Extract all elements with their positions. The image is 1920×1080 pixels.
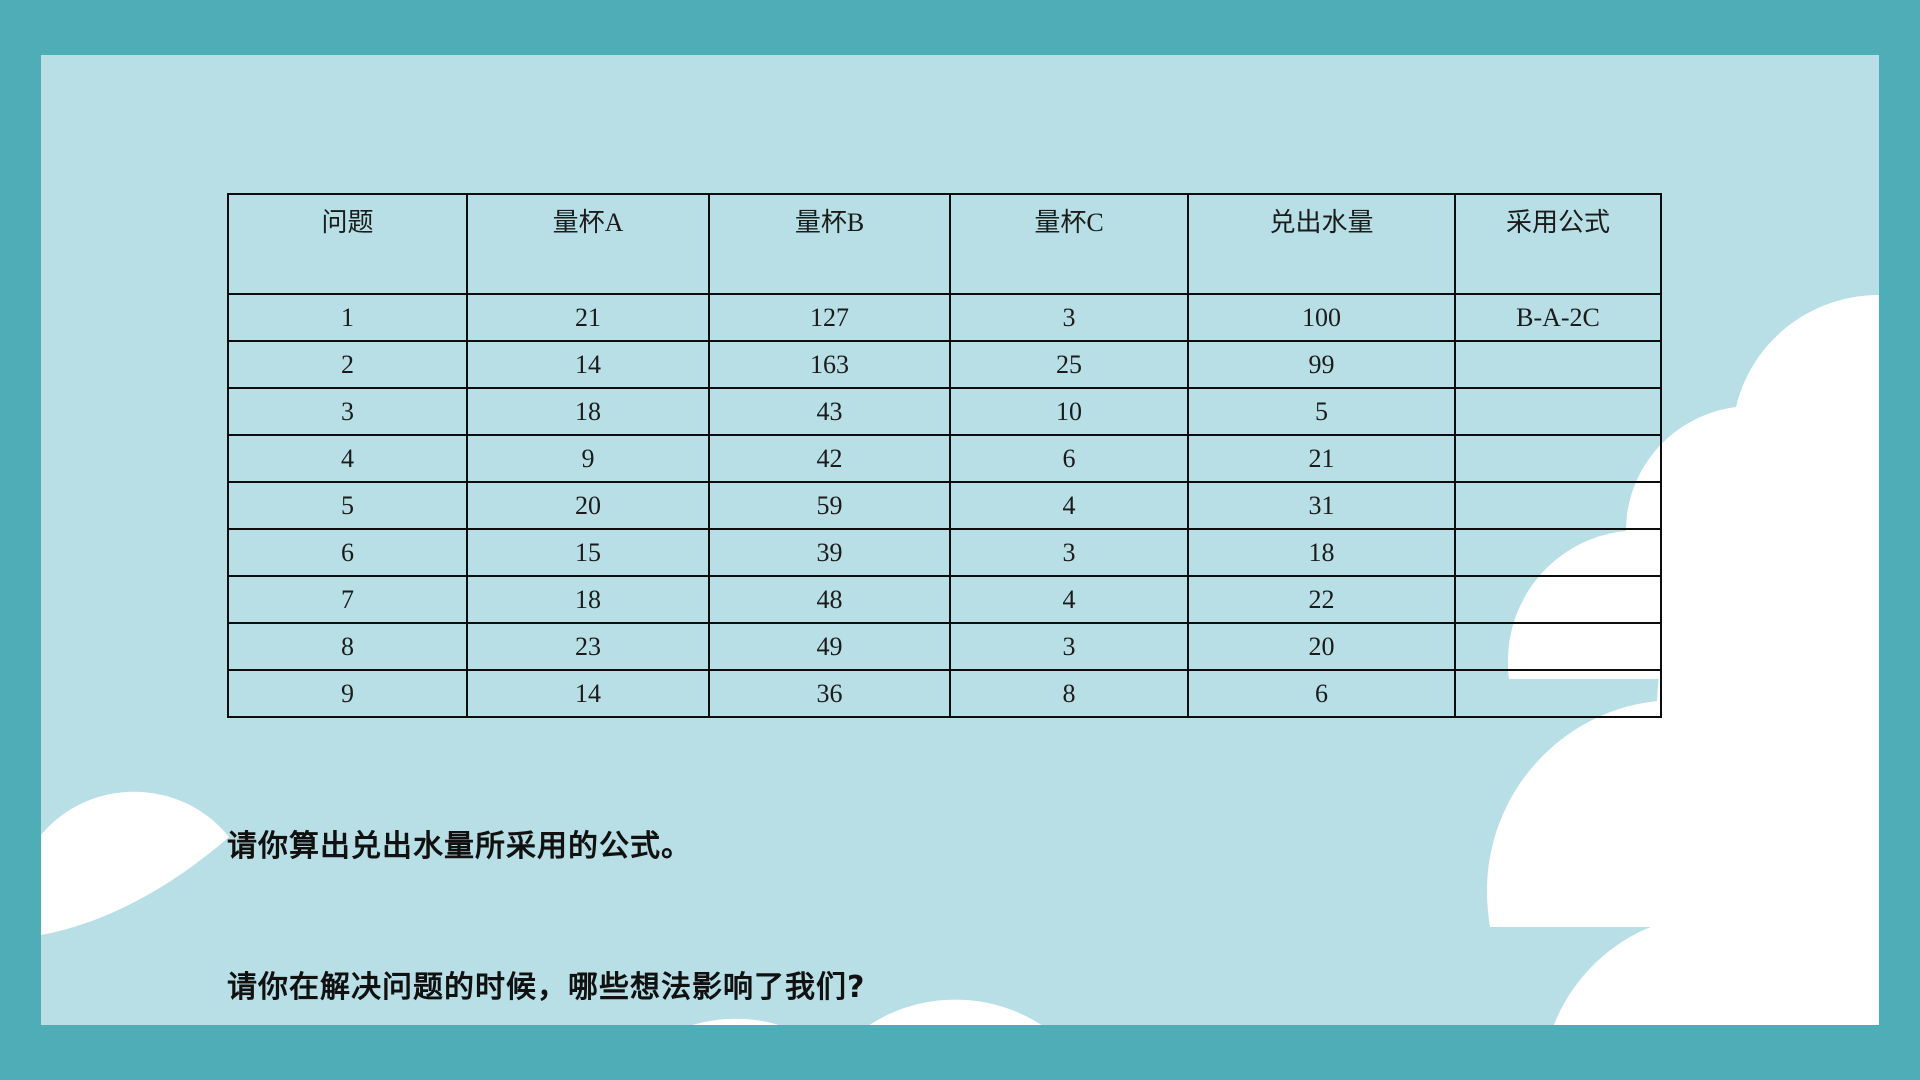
cell-vessel-a: 9: [467, 435, 709, 482]
cell-question: 2: [228, 341, 467, 388]
column-header-vessel-b: 量杯B: [709, 194, 950, 294]
cell-vessel-b: 127: [709, 294, 950, 341]
cell-formula[interactable]: [1455, 435, 1661, 482]
cell-vessel-b: 39: [709, 529, 950, 576]
cell-vessel-b: 36: [709, 670, 950, 717]
vessel-table: 问题 量杯A 量杯B 量杯C 兑出水量 采用公式 1 21 127 3 100: [227, 193, 1662, 718]
cell-output: 20: [1188, 623, 1455, 670]
cell-question: 1: [228, 294, 467, 341]
cell-vessel-a: 14: [467, 670, 709, 717]
vessel-table-container: 问题 量杯A 量杯B 量杯C 兑出水量 采用公式 1 21 127 3 100: [227, 193, 1660, 718]
cell-vessel-b: 163: [709, 341, 950, 388]
cell-formula[interactable]: [1455, 529, 1661, 576]
cell-output: 18: [1188, 529, 1455, 576]
cell-question: 9: [228, 670, 467, 717]
cell-vessel-c: 3: [950, 623, 1188, 670]
slide-canvas: 问题 量杯A 量杯B 量杯C 兑出水量 采用公式 1 21 127 3 100: [41, 55, 1879, 1025]
prompt-formula-question: 请你算出兑出水量所采用的公式。: [227, 821, 692, 865]
table-row: 3 18 43 10 5: [228, 388, 1661, 435]
cell-vessel-a: 23: [467, 623, 709, 670]
cell-question: 5: [228, 482, 467, 529]
table-row: 1 21 127 3 100 B-A-2C: [228, 294, 1661, 341]
cell-question: 8: [228, 623, 467, 670]
table-row: 2 14 163 25 99: [228, 341, 1661, 388]
column-header-output: 兑出水量: [1188, 194, 1455, 294]
cell-vessel-a: 18: [467, 576, 709, 623]
table-row: 7 18 48 4 22: [228, 576, 1661, 623]
cell-vessel-a: 14: [467, 341, 709, 388]
cell-vessel-b: 59: [709, 482, 950, 529]
cell-vessel-b: 42: [709, 435, 950, 482]
table-row: 4 9 42 6 21: [228, 435, 1661, 482]
cell-output: 21: [1188, 435, 1455, 482]
cell-vessel-c: 10: [950, 388, 1188, 435]
cell-output: 5: [1188, 388, 1455, 435]
slide-root: 问题 量杯A 量杯B 量杯C 兑出水量 采用公式 1 21 127 3 100: [0, 0, 1920, 1080]
table-row: 9 14 36 8 6: [228, 670, 1661, 717]
table-header-row: 问题 量杯A 量杯B 量杯C 兑出水量 采用公式: [228, 194, 1661, 294]
cell-vessel-a: 15: [467, 529, 709, 576]
cell-vessel-c: 3: [950, 529, 1188, 576]
table-row: 6 15 39 3 18: [228, 529, 1661, 576]
cell-vessel-a: 18: [467, 388, 709, 435]
cell-vessel-a: 20: [467, 482, 709, 529]
cell-question: 7: [228, 576, 467, 623]
cell-formula[interactable]: [1455, 576, 1661, 623]
cell-formula[interactable]: [1455, 670, 1661, 717]
cell-formula[interactable]: [1455, 341, 1661, 388]
cell-question: 4: [228, 435, 467, 482]
cell-formula[interactable]: [1455, 482, 1661, 529]
prompt-reflection-question: 请你在解决问题的时候，哪些想法影响了我们?: [227, 962, 865, 1006]
cell-output: 22: [1188, 576, 1455, 623]
column-header-question: 问题: [228, 194, 467, 294]
cell-output: 100: [1188, 294, 1455, 341]
column-header-vessel-a: 量杯A: [467, 194, 709, 294]
column-header-vessel-c: 量杯C: [950, 194, 1188, 294]
table-row: 5 20 59 4 31: [228, 482, 1661, 529]
cell-output: 6: [1188, 670, 1455, 717]
cell-question: 3: [228, 388, 467, 435]
cell-vessel-b: 43: [709, 388, 950, 435]
cell-vessel-b: 48: [709, 576, 950, 623]
cell-question: 6: [228, 529, 467, 576]
cell-vessel-c: 3: [950, 294, 1188, 341]
cell-vessel-c: 4: [950, 482, 1188, 529]
cell-output: 99: [1188, 341, 1455, 388]
cell-formula[interactable]: [1455, 388, 1661, 435]
cell-formula[interactable]: [1455, 623, 1661, 670]
cell-vessel-b: 49: [709, 623, 950, 670]
cell-vessel-a: 21: [467, 294, 709, 341]
table-row: 8 23 49 3 20: [228, 623, 1661, 670]
column-header-formula: 采用公式: [1455, 194, 1661, 294]
cell-formula[interactable]: B-A-2C: [1455, 294, 1661, 341]
cell-vessel-c: 8: [950, 670, 1188, 717]
cell-output: 31: [1188, 482, 1455, 529]
cell-vessel-c: 25: [950, 341, 1188, 388]
cell-vessel-c: 4: [950, 576, 1188, 623]
cell-vessel-c: 6: [950, 435, 1188, 482]
